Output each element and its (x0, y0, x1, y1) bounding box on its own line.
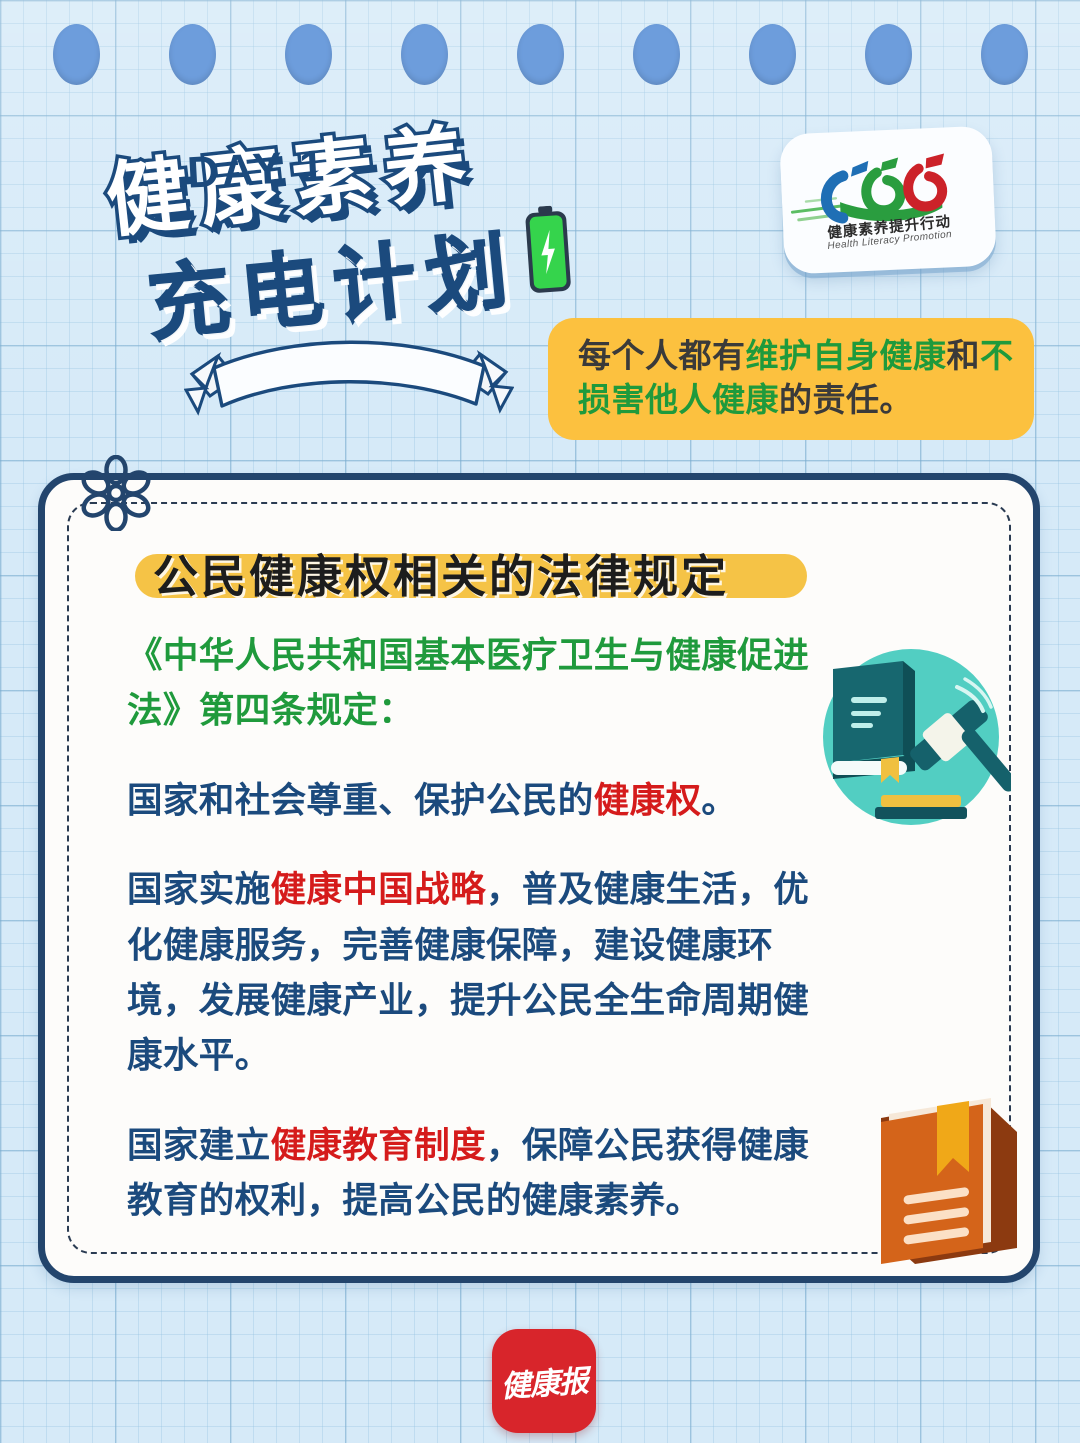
poster-title-line-1: 健康素养 (103, 122, 482, 244)
punch-hole (865, 24, 912, 85)
p2-part-1: 国家和社会尊重、保护公民的 (127, 780, 594, 820)
paragraph-healthy-china: 国家实施健康中国战略，普及健康生活，优化健康服务，完善健康保障，建设健康环境，发… (127, 862, 837, 1084)
card-heading-text: 公民健康权相关的法律规定 (153, 540, 729, 605)
org-logo: 健康素养提升行动 Health Literacy Promotion (779, 125, 997, 274)
flower-icon (78, 455, 154, 531)
card-heading: 公民健康权相关的法律规定 (153, 540, 729, 605)
publisher-brand-label: 健康报 (488, 1325, 599, 1436)
paragraph-health-education: 国家建立健康教育制度，保障公民获得健康教育的权利，提高公民的健康素养。 (127, 1118, 837, 1229)
card-body: 《中华人民共和国基本医疗卫生与健康促进法》第四条规定： 国家和社会尊重、保护公民… (127, 628, 837, 1262)
p4-highlight: 健康教育制度 (271, 1125, 486, 1165)
p3-highlight: 健康中国战略 (271, 869, 486, 909)
key-message-text: 每个人都有维护自身健康和不损害他人健康的责任。 (578, 334, 1016, 422)
p4-part-1: 国家建立 (127, 1125, 271, 1165)
content-card: 公民健康权相关的法律规定 《中华人民共和国基本医疗卫生与健康促进法》第四条规定：… (38, 473, 1040, 1283)
battery-charging-icon (523, 205, 573, 296)
p2-part-3: 。 (701, 780, 737, 820)
punch-hole-row (0, 24, 1080, 84)
punch-hole (285, 24, 332, 85)
punch-hole (401, 24, 448, 85)
p2-highlight: 健康权 (594, 780, 702, 820)
law-article: 第四条规定： (199, 690, 414, 730)
poster-title-block: 健康素养 充电计划 DAY 1 (92, 120, 612, 450)
law-book-gavel-icon (811, 635, 1011, 835)
callout-segment-1: 每个人都有 (578, 337, 746, 374)
punch-hole (633, 24, 680, 85)
callout-segment-5: 的责任。 (779, 381, 913, 418)
key-message-callout: 每个人都有维护自身健康和不损害他人健康的责任。 (548, 318, 1034, 440)
paragraph-health-right: 国家和社会尊重、保护公民的健康权。 (127, 773, 837, 828)
p3-part-1: 国家实施 (127, 869, 271, 909)
punch-hole (517, 24, 564, 85)
callout-segment-2: 维护自身健康 (746, 337, 947, 374)
callout-segment-3: 和 (947, 337, 981, 374)
day-ribbon-banner (184, 316, 514, 436)
punch-hole (169, 24, 216, 85)
publisher-brand-logo: 健康报 (492, 1329, 596, 1433)
paragraph-law-title: 《中华人民共和国基本医疗卫生与健康促进法》第四条规定： (127, 628, 837, 739)
punch-hole (749, 24, 796, 85)
orange-book-icon (867, 1092, 1027, 1264)
punch-hole (981, 24, 1028, 85)
punch-hole (53, 24, 100, 85)
